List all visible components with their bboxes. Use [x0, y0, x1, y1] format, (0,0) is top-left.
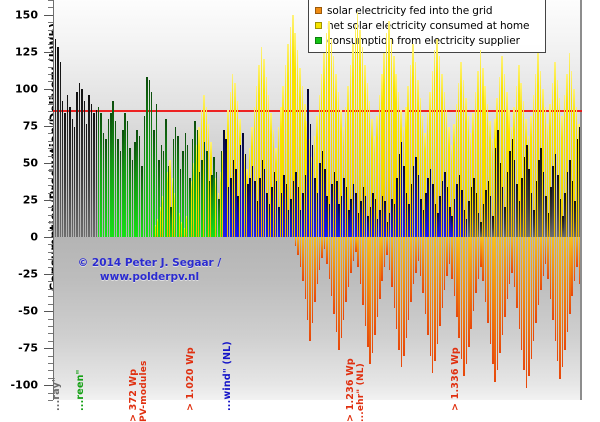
bar-consumption — [151, 92, 152, 237]
bar-grid-feed — [353, 237, 354, 261]
bar-consumption — [447, 187, 448, 237]
bar-grid-feed — [305, 237, 306, 299]
bar-grid-feed — [336, 237, 337, 332]
bar-consumption — [435, 204, 436, 237]
bar-consumption — [403, 166, 404, 237]
bar-consumption — [488, 181, 489, 237]
bar-grid-feed — [492, 237, 493, 364]
bar-consumption — [298, 187, 299, 237]
bar-consumption — [216, 172, 217, 237]
legend: solar electricity fed into the grid net … — [308, 0, 546, 53]
bar-consumption — [136, 130, 137, 237]
bar-consumption — [247, 184, 248, 237]
y-tick-major — [44, 348, 53, 349]
bar-consumption — [237, 196, 238, 237]
ann-1236wp: > 1.236 Wp...ehr" (NL) — [345, 358, 367, 422]
bar-consumption — [286, 184, 287, 237]
bar-grid-feed — [317, 237, 318, 284]
bar-consumption — [442, 181, 443, 237]
bar-consumption — [437, 213, 438, 237]
bar-consumption — [504, 207, 505, 237]
bar-grid-feed — [451, 237, 452, 278]
bar-consumption — [233, 160, 234, 237]
bar-consumption — [293, 181, 294, 237]
bar-grid-feed — [579, 237, 580, 284]
bar-grid-feed — [497, 237, 498, 370]
bar-consumption — [367, 216, 368, 237]
bar-grid-feed — [341, 237, 342, 338]
ann-green-label: ...reen" — [75, 369, 86, 411]
bar-consumption — [319, 163, 320, 237]
bar-solar-home — [480, 50, 481, 237]
bar-consumption — [173, 139, 174, 237]
bar-consumption — [353, 184, 354, 237]
bar-consumption — [528, 169, 529, 237]
bar-consumption — [497, 130, 498, 237]
bar-consumption — [242, 133, 243, 237]
bar-grid-feed — [540, 237, 541, 290]
bar-consumption — [127, 121, 128, 237]
bar-consumption — [346, 187, 347, 237]
bar-grid-feed — [473, 237, 474, 311]
bar-consumption — [389, 213, 390, 237]
bar-consumption — [259, 178, 260, 237]
bar-consumption — [72, 119, 73, 238]
bar-grid-feed — [499, 237, 500, 353]
bar-grid-feed — [415, 237, 416, 273]
bar-consumption — [170, 207, 171, 237]
bar-consumption — [468, 201, 469, 237]
bar-consumption — [74, 127, 75, 237]
y-axis-tick-labels: 1501251007550250-25-50-75-100 — [0, 0, 44, 400]
bar-consumption — [478, 213, 479, 237]
bar-consumption — [533, 210, 534, 237]
bar-grid-feed — [543, 237, 544, 276]
bar-grid-feed — [309, 237, 310, 341]
bar-solar-home — [357, 12, 358, 237]
bar-consumption — [86, 124, 87, 237]
bar-solar-home — [581, 142, 582, 237]
bar-grid-feed — [377, 237, 378, 317]
bar-consumption — [464, 210, 465, 237]
bar-consumption — [341, 196, 342, 237]
y-tick-label: 100 — [15, 82, 38, 95]
bar-grid-feed — [372, 237, 373, 353]
bar-grid-feed — [567, 237, 568, 332]
bar-grid-feed — [420, 237, 421, 276]
bar-consumption — [454, 199, 455, 238]
bar-consumption — [91, 104, 92, 237]
legend-item[interactable]: consumption from electricity supplier — [315, 33, 539, 48]
bar-grid-feed — [569, 237, 570, 314]
bar-consumption — [338, 204, 339, 237]
bar-consumption — [370, 207, 371, 237]
bar-grid-feed — [511, 237, 512, 273]
bar-consumption — [423, 210, 424, 237]
bar-consumption — [399, 154, 400, 237]
bar-consumption — [245, 154, 246, 237]
bar-consumption — [180, 169, 181, 237]
copyright-url: www.polderpv.nl — [100, 271, 199, 283]
bar-grid-feed — [302, 237, 303, 281]
bar-grid-feed — [350, 237, 351, 273]
bar-consumption — [427, 178, 428, 237]
bar-consumption — [79, 83, 80, 237]
bar-consumption — [577, 139, 578, 237]
bar-grid-feed — [533, 237, 534, 341]
bar-consumption — [276, 181, 277, 237]
bar-consumption — [199, 172, 200, 237]
bar-consumption — [165, 119, 166, 238]
bar-grid-feed — [324, 237, 325, 249]
bar-consumption — [302, 193, 303, 237]
ann-372wp: > 372 WpPV-modules — [128, 360, 150, 422]
bar-consumption — [557, 175, 558, 237]
bar-consumption — [84, 101, 85, 237]
bar-consumption — [483, 204, 484, 237]
y-tick-major — [44, 163, 53, 164]
bar-solar-home — [287, 44, 288, 237]
bar-consumption — [206, 151, 207, 237]
bar-grid-feed — [514, 237, 515, 287]
bar-consumption — [168, 166, 169, 237]
bar-grid-feed — [526, 237, 527, 388]
bar-consumption — [269, 204, 270, 237]
bar-consumption — [187, 145, 188, 237]
bar-consumption — [449, 207, 450, 237]
bar-grid-feed — [343, 237, 344, 320]
bar-consumption — [163, 151, 164, 237]
bar-grid-feed — [300, 237, 301, 267]
bar-consumption — [225, 139, 226, 237]
bar-consumption — [197, 130, 198, 237]
ann-gray-label: ...ray" — [51, 377, 62, 411]
bar-consumption — [382, 196, 383, 237]
bar-consumption — [88, 95, 89, 237]
bar-solar-home — [465, 98, 466, 237]
ann-gray: ...ray" — [51, 377, 62, 411]
y-tick-label: -75 — [18, 342, 38, 355]
bar-consumption — [105, 139, 106, 237]
plot-area — [53, 0, 582, 400]
bar-grid-feed — [430, 237, 431, 356]
bar-grid-feed — [329, 237, 330, 278]
bar-consumption — [555, 154, 556, 237]
bar-consumption — [430, 169, 431, 237]
bar-grid-feed — [444, 237, 445, 290]
bar-grid-feed — [519, 237, 520, 329]
bar-consumption — [387, 222, 388, 237]
y-tick-label: 75 — [23, 119, 38, 132]
bar-consumption — [81, 89, 82, 237]
bar-grid-feed — [379, 237, 380, 299]
bar-consumption — [271, 187, 272, 237]
bar-consumption — [132, 160, 133, 237]
y-tick-major — [44, 237, 53, 238]
bar-consumption — [415, 157, 416, 237]
bar-solar-home — [367, 83, 368, 237]
bar-consumption — [526, 145, 527, 237]
bar-consumption — [223, 130, 224, 237]
bar-consumption — [235, 169, 236, 237]
bar-grid-feed — [576, 237, 577, 267]
bar-consumption — [281, 193, 282, 237]
ann-372wp-label: > 372 Wp — [128, 369, 139, 422]
bar-consumption — [480, 222, 481, 237]
bar-grid-feed — [516, 237, 517, 308]
bar-grid-feed — [480, 237, 481, 267]
bar-grid-feed — [485, 237, 486, 302]
bar-consumption — [329, 204, 330, 237]
bar-consumption — [413, 166, 414, 237]
bar-grid-feed — [307, 237, 308, 320]
bar-consumption — [456, 184, 457, 237]
bar-grid-feed — [468, 237, 469, 347]
bar-grid-feed — [434, 237, 435, 361]
y-tick-label: 125 — [15, 45, 38, 58]
bar-consumption — [396, 178, 397, 237]
bar-grid-feed — [396, 237, 397, 329]
bar-grid-feed — [422, 237, 423, 293]
bar-grid-feed — [369, 237, 370, 364]
bar-consumption — [545, 196, 546, 237]
legend-item[interactable]: solar electricity fed into the grid — [315, 3, 539, 18]
bar-grid-feed — [502, 237, 503, 335]
bar-consumption — [305, 175, 306, 237]
bar-consumption — [401, 142, 402, 237]
bar-grid-feed — [357, 237, 358, 267]
bar-grid-feed — [384, 237, 385, 267]
ann-1336wp-label: > 1.336 Wp — [450, 347, 461, 411]
bar-consumption — [146, 77, 147, 237]
bar-consumption — [117, 139, 118, 237]
bar-consumption — [569, 160, 570, 237]
bar-consumption — [500, 163, 501, 237]
bar-consumption — [495, 148, 496, 237]
bar-grid-feed — [557, 237, 558, 361]
bar-grid-feed — [326, 237, 327, 264]
bar-consumption — [574, 201, 575, 237]
bar-consumption — [288, 210, 289, 237]
chart-root: Consumption/Production/Delivery (kWh) 15… — [0, 0, 600, 400]
bar-consumption — [358, 213, 359, 237]
bar-consumption — [512, 139, 513, 237]
bar-grid-feed — [454, 237, 455, 296]
y-tick-major — [44, 52, 53, 53]
bar-consumption — [264, 169, 265, 237]
bar-grid-feed — [348, 237, 349, 287]
y-tick-major — [44, 200, 53, 201]
bar-consumption — [509, 151, 510, 237]
bar-grid-feed — [345, 237, 346, 302]
bar-consumption — [379, 210, 380, 237]
bar-consumption — [502, 187, 503, 237]
bar-grid-feed — [394, 237, 395, 308]
bar-grid-feed — [475, 237, 476, 293]
bar-consumption — [153, 130, 154, 237]
bar-grid-feed — [456, 237, 457, 317]
bar-consumption — [158, 160, 159, 237]
bar-grid-feed — [401, 237, 402, 367]
bar-consumption — [466, 219, 467, 237]
bar-consumption — [461, 190, 462, 237]
bar-consumption — [406, 193, 407, 237]
bar-consumption — [471, 187, 472, 237]
bar-grid-feed — [389, 237, 390, 270]
bar-consumption — [98, 107, 99, 237]
bar-grid-feed — [449, 237, 450, 264]
y-tick-label: -25 — [18, 268, 38, 281]
bar-grid-feed — [360, 237, 361, 284]
bar-consumption — [581, 151, 582, 237]
bar-grid-feed — [574, 237, 575, 281]
bar-grid-feed — [463, 237, 464, 376]
bar-grid-feed — [391, 237, 392, 287]
bar-consumption — [209, 181, 210, 237]
bar-grid-feed — [331, 237, 332, 296]
bar-grid-feed — [297, 237, 298, 255]
bar-grid-feed — [490, 237, 491, 344]
bar-consumption — [384, 201, 385, 237]
bar-consumption — [543, 172, 544, 237]
bar-grid-feed — [427, 237, 428, 335]
bar-consumption — [375, 199, 376, 238]
bar-consumption — [134, 142, 135, 237]
bar-grid-feed — [504, 237, 505, 317]
legend-swatch-consumption — [315, 37, 322, 44]
bar-grid-feed — [314, 237, 315, 302]
bar-consumption — [182, 151, 183, 237]
bar-consumption — [536, 181, 537, 237]
bar-consumption — [295, 172, 296, 237]
bar-consumption — [579, 127, 580, 237]
bar-consumption — [60, 62, 61, 237]
bar-consumption — [485, 190, 486, 237]
y-tick-label: 50 — [23, 156, 38, 169]
bar-consumption — [334, 172, 335, 237]
bar-grid-feed — [521, 237, 522, 350]
bar-grid-feed — [321, 237, 322, 258]
bar-consumption — [115, 121, 116, 237]
bar-consumption — [524, 157, 525, 237]
bar-grid-feed — [439, 237, 440, 326]
bar-grid-feed — [478, 237, 479, 278]
bar-consumption — [278, 207, 279, 237]
bar-consumption — [531, 193, 532, 237]
bar-consumption — [391, 199, 392, 238]
bar-consumption — [175, 127, 176, 237]
bar-consumption — [96, 110, 97, 237]
bar-consumption — [514, 160, 515, 237]
bar-grid-feed — [562, 237, 563, 367]
bar-consumption — [252, 166, 253, 237]
bar-consumption — [432, 184, 433, 237]
bar-consumption — [560, 199, 561, 238]
y-tick-major — [44, 126, 53, 127]
ann-1236wp-sublabel: ...ehr" (NL) — [356, 358, 367, 422]
bar-grid-feed — [381, 237, 382, 281]
bar-consumption — [64, 113, 65, 237]
y-tick-major — [44, 15, 53, 16]
bar-grid-feed — [564, 237, 565, 350]
bar-grid-feed — [531, 237, 532, 358]
bar-grid-feed — [410, 237, 411, 302]
ann-wind-nl: ...wind" (NL) — [222, 341, 233, 411]
bar-grid-feed — [442, 237, 443, 308]
bar-consumption — [221, 151, 222, 237]
bar-grid-feed — [386, 237, 387, 255]
bar-consumption — [507, 172, 508, 237]
y-tick-major — [44, 274, 53, 275]
bar-consumption — [103, 133, 104, 237]
bar-grid-feed — [425, 237, 426, 314]
bars-layer — [54, 0, 580, 400]
bar-grid-feed — [494, 237, 495, 382]
bar-consumption — [567, 172, 568, 237]
bar-consumption — [324, 169, 325, 237]
bar-solar-home — [386, 33, 387, 237]
bar-grid-feed — [545, 237, 546, 264]
bar-consumption — [350, 199, 351, 238]
bar-grid-feed — [355, 237, 356, 252]
bar-consumption — [108, 119, 109, 238]
bar-consumption — [141, 166, 142, 237]
bar-consumption — [156, 104, 157, 237]
bar-grid-feed — [398, 237, 399, 350]
bar-consumption — [365, 196, 366, 237]
bar-consumption — [394, 204, 395, 237]
bar-consumption — [57, 47, 58, 237]
bar-consumption — [257, 201, 258, 237]
bar-consumption — [283, 175, 284, 237]
bar-consumption — [552, 166, 553, 237]
y-tick-label: 0 — [30, 231, 38, 244]
bar-consumption — [110, 113, 111, 237]
legend-item[interactable]: net solar electricity consumed at home — [315, 18, 539, 33]
bar-consumption — [516, 184, 517, 237]
bar-grid-feed — [437, 237, 438, 344]
bar-consumption — [312, 145, 313, 237]
bar-grid-feed — [552, 237, 553, 320]
bar-consumption — [100, 113, 101, 237]
bar-consumption — [473, 178, 474, 237]
ann-372wp-sublabel: PV-modules — [139, 360, 150, 422]
ann-green: ...reen" — [75, 369, 86, 411]
bar-consumption — [562, 216, 563, 237]
bar-consumption — [439, 196, 440, 237]
bar-consumption — [317, 193, 318, 237]
bar-grid-feed — [547, 237, 548, 278]
bar-grid-feed — [550, 237, 551, 299]
bar-grid-feed — [408, 237, 409, 320]
bar-grid-feed — [523, 237, 524, 370]
bar-consumption — [314, 178, 315, 237]
bar-consumption — [331, 184, 332, 237]
bar-consumption — [218, 199, 219, 238]
bar-consumption — [55, 39, 56, 238]
bar-grid-feed — [432, 237, 433, 373]
bar-consumption — [177, 136, 178, 237]
bar-consumption — [76, 92, 77, 237]
bar-consumption — [254, 181, 255, 237]
bar-grid-feed — [470, 237, 471, 329]
bar-grid-feed — [555, 237, 556, 341]
bar-consumption — [459, 175, 460, 237]
y-tick-label: 150 — [15, 8, 38, 21]
bar-consumption — [336, 181, 337, 237]
bar-consumption — [363, 187, 364, 237]
bar-consumption — [492, 216, 493, 237]
